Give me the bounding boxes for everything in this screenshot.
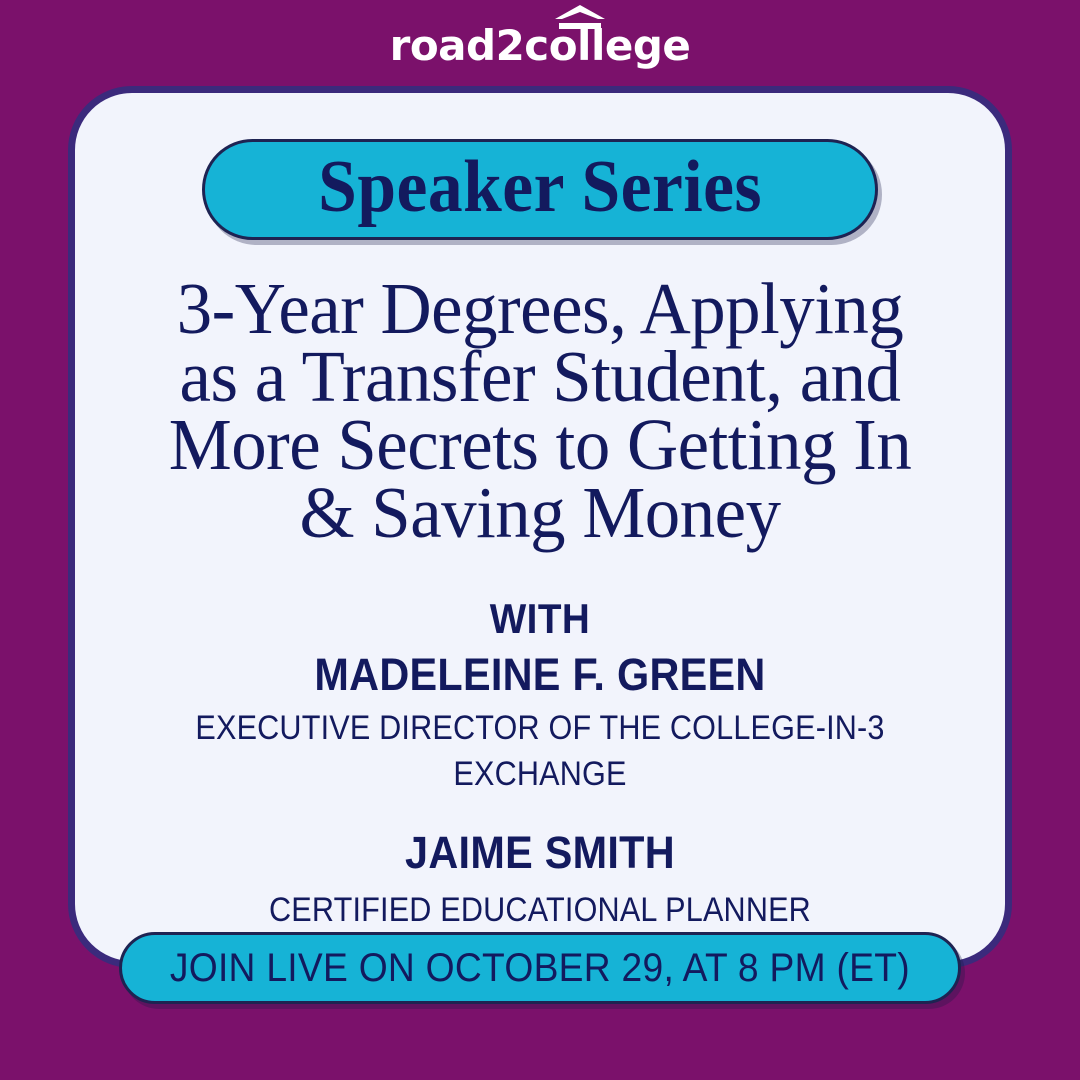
- content-card: Speaker Series 3-Year Degrees, Applying …: [68, 86, 1012, 968]
- speaker-entry: JAIME SMITH CERTIFIED EDUCATIONAL PLANNE…: [75, 823, 1005, 933]
- speaker-series-badge-label: Speaker Series: [318, 150, 762, 230]
- headline: 3-Year Degrees, Applying as a Transfer S…: [85, 275, 995, 547]
- headline-line-3: More Secrets to Getting In: [99, 411, 982, 479]
- speaker-entry: MADELEINE F. GREEN EXECUTIVE DIRECTOR OF…: [75, 645, 1005, 797]
- speaker-title: CERTIFIED EDUCATIONAL PLANNER: [122, 887, 959, 933]
- brand-logo: road2college: [390, 19, 691, 67]
- join-live-cta[interactable]: JOIN LIVE ON OCTOBER 29, AT 8 PM (ET): [119, 932, 961, 1004]
- headline-line-1: 3-Year Degrees, Applying: [99, 275, 982, 343]
- speaker-name: JAIME SMITH: [112, 823, 968, 883]
- speaker-name: MADELEINE F. GREEN: [112, 645, 968, 705]
- join-live-cta-label: JOIN LIVE ON OCTOBER 29, AT 8 PM (ET): [170, 948, 910, 988]
- headline-line-4: & Saving Money: [99, 479, 982, 547]
- speaker-title: EXECUTIVE DIRECTOR OF THE COLLEGE-IN-3 E…: [122, 705, 959, 797]
- with-label: WITH: [112, 593, 968, 645]
- brand-logo-bar: road2college: [0, 0, 1080, 86]
- promo-poster: road2college Speaker Series 3-Year Degre…: [0, 0, 1080, 1080]
- brand-logo-text: road2college: [390, 21, 691, 70]
- speaker-series-badge: Speaker Series: [202, 139, 878, 240]
- cta-wrap: JOIN LIVE ON OCTOBER 29, AT 8 PM (ET): [0, 932, 1080, 1004]
- speakers-section: WITH MADELEINE F. GREEN EXECUTIVE DIRECT…: [75, 593, 1005, 933]
- speaker-series-badge-wrap: Speaker Series: [75, 139, 1005, 240]
- headline-line-2: as a Transfer Student, and: [99, 343, 982, 411]
